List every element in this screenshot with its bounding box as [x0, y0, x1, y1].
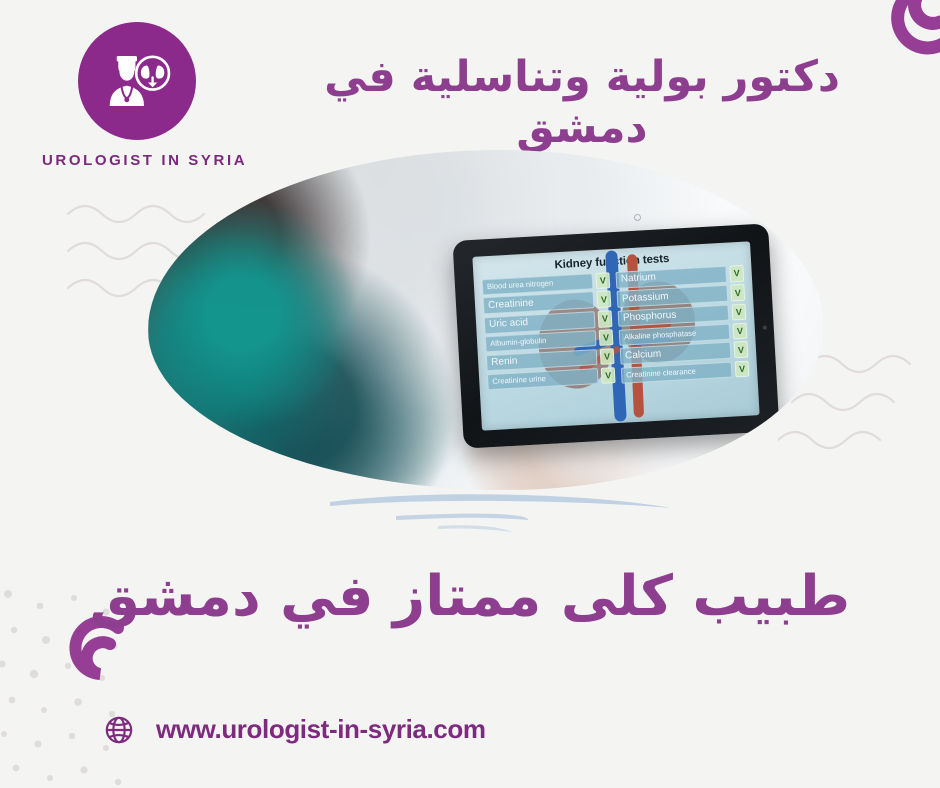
test-column-right: Natrium V Potassium V Phosphorus V Alk	[615, 265, 749, 384]
test-check-icon: V	[732, 323, 747, 340]
test-check-icon: V	[729, 265, 744, 283]
test-check-icon: V	[595, 272, 610, 289]
test-check-icon: V	[600, 348, 615, 366]
swoosh-underline-icon	[330, 482, 675, 544]
test-check-icon: V	[734, 341, 749, 359]
kidney-test-lists: Blood urea nitrogen V Creatinine V Uric …	[482, 265, 750, 391]
main-headline: طبيب كلى ممتاز في دمشق	[0, 566, 940, 629]
header: UROLOGIST IN SYRIA دكتور بولية وتناسلية …	[0, 0, 940, 172]
test-column-left: Blood urea nitrogen V Creatinine V Uric …	[482, 272, 616, 391]
website-footer[interactable]: www.urologist-in-syria.com	[104, 714, 486, 745]
tablet-camera-icon	[763, 326, 767, 330]
test-check-icon: V	[731, 303, 746, 321]
brand-badge	[78, 22, 196, 140]
test-check-icon: V	[735, 360, 750, 377]
poster-canvas: UROLOGIST IN SYRIA دكتور بولية وتناسلية …	[0, 0, 940, 788]
test-check-icon: V	[730, 284, 745, 302]
doctor-kidney-icon	[98, 42, 176, 120]
test-check-icon: V	[598, 310, 613, 328]
hero-photo: Kidney function tests Blood urea nitroge…	[148, 150, 824, 490]
globe-icon	[104, 715, 134, 745]
coat-button-icon	[634, 214, 641, 221]
page-title: دكتور بولية وتناسلية في دمشق	[252, 52, 912, 153]
test-check-icon: V	[599, 329, 614, 346]
brand-logo[interactable]: UROLOGIST IN SYRIA	[42, 22, 232, 169]
test-check-icon: V	[601, 367, 616, 384]
website-url[interactable]: www.urologist-in-syria.com	[156, 714, 486, 745]
tablet-screen: Kidney function tests Blood urea nitroge…	[472, 241, 759, 430]
test-check-icon: V	[596, 291, 611, 309]
tablet-device: Kidney function tests Blood urea nitroge…	[452, 223, 779, 448]
